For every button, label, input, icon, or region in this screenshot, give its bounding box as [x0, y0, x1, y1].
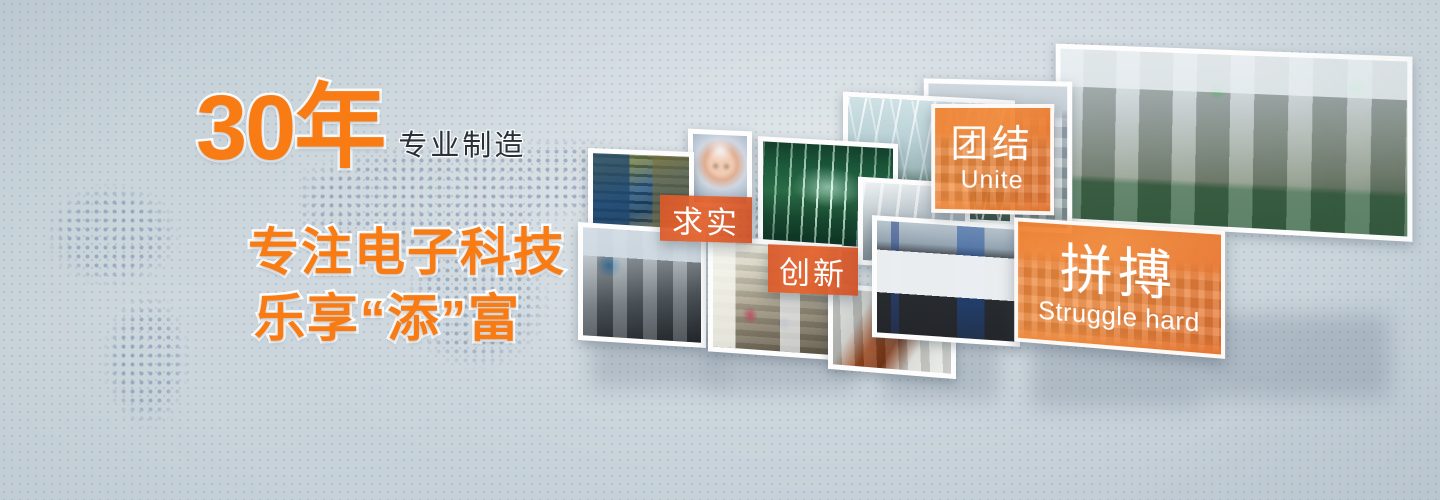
promo-banner: 30年 专业制造 专注电子科技 乐享“添”富 — [0, 0, 1440, 500]
value-chip-qiushi-label: 求实 — [672, 196, 740, 243]
photo-worker-portrait — [693, 134, 747, 204]
value-chip-unite-text: 团结 Unite — [951, 124, 1034, 195]
collage-shadow-5 — [1200, 314, 1390, 398]
value-chip-unite[interactable]: 团结 Unite — [931, 104, 1054, 215]
photo-reflow-oven — [583, 227, 701, 342]
value-chip-struggle-text: 拼搏 Struggle hard — [1038, 239, 1200, 337]
photo-card-smt-machines — [1056, 44, 1413, 242]
value-chip-struggle[interactable]: 拼搏 Struggle hard — [1014, 217, 1225, 359]
headline-row: 30年 专业制造 — [196, 78, 616, 174]
headline-block: 30年 专业制造 专注电子科技 乐享“添”富 — [196, 78, 616, 350]
photo-collage: 求实 创新 团结 Unite 拼搏 Struggle hard — [560, 28, 1440, 428]
value-chip-unite-label-en: Unite — [961, 166, 1024, 195]
value-chip-struggle-label-cn: 拼搏 — [1060, 240, 1177, 306]
years-headline: 30年 — [196, 82, 384, 174]
photo-smt-machines — [1061, 49, 1408, 237]
value-chip-chuangxin-label: 创新 — [779, 246, 847, 294]
tagline-professional-manufacturing: 专业制造 — [398, 132, 526, 174]
value-chip-unite-label-cn: 团结 — [951, 124, 1034, 167]
value-chip-qiushi[interactable]: 求实 — [660, 195, 752, 244]
value-chip-chuangxin[interactable]: 创新 — [768, 244, 858, 295]
photo-card-test-equipment — [872, 215, 1020, 347]
photo-test-equipment — [877, 220, 1015, 341]
